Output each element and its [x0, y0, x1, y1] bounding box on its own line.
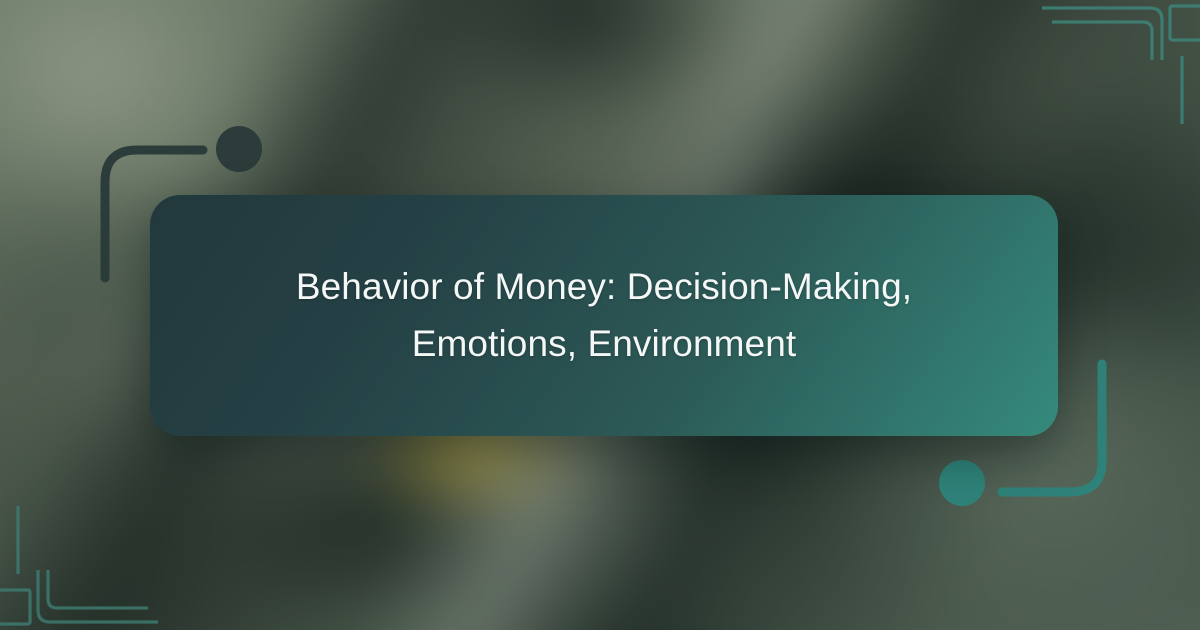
- title-card: Behavior of Money: Decision-Making, Emot…: [150, 195, 1058, 436]
- page-title: Behavior of Money: Decision-Making, Emot…: [274, 259, 934, 371]
- accent-dot-bottom-right: [939, 460, 985, 506]
- accent-dot-top-left: [216, 126, 262, 172]
- social-card-canvas: Behavior of Money: Decision-Making, Emot…: [0, 0, 1200, 630]
